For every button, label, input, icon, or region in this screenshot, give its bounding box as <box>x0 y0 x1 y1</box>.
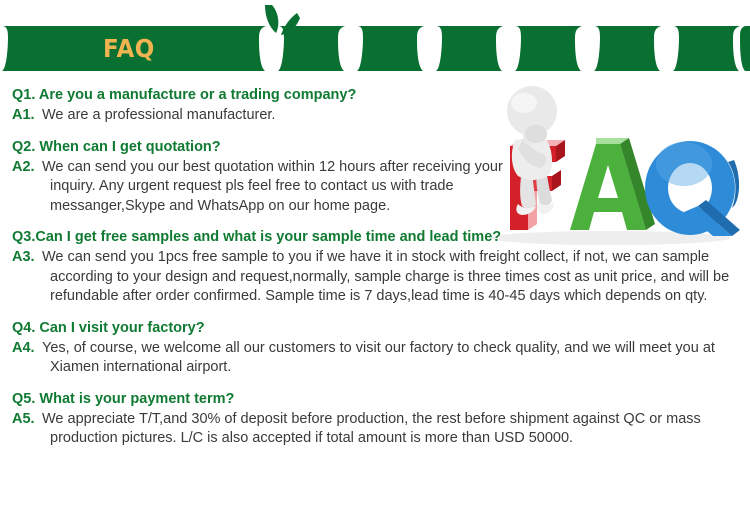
faq-question: Q3.Can I get free samples and what is yo… <box>12 228 738 247</box>
bamboo-banner: FAQ <box>0 0 750 78</box>
faq-answer: A4.Yes, of course, we welcome all our cu… <box>12 339 738 378</box>
faq-answer-tag: A2. <box>12 158 42 178</box>
faq-answer-text: We are a professional manufacturer. <box>42 107 275 123</box>
bamboo-segment-4 <box>436 26 503 71</box>
faq-item-3: Q3.Can I get free samples and what is yo… <box>12 228 738 307</box>
bamboo-segment-3 <box>357 26 424 71</box>
faq-answer-text: Yes, of course, we welcome all our custo… <box>42 340 715 376</box>
faq-item-1: Q1. Are you a manufacture or a trading c… <box>12 86 738 126</box>
bamboo-segment-8 <box>740 26 750 71</box>
banner-title: FAQ <box>103 36 155 61</box>
faq-question: Q5. What is your payment term? <box>12 390 738 409</box>
faq-answer-text: We appreciate T/T,and 30% of deposit bef… <box>42 411 701 447</box>
faq-question: Q4. Can I visit your factory? <box>12 319 738 338</box>
faq-list: Q1. Are you a manufacture or a trading c… <box>12 86 738 461</box>
faq-answer: A5.We appreciate T/T,and 30% of deposit … <box>12 410 738 449</box>
faq-question: Q1. Are you a manufacture or a trading c… <box>12 86 472 105</box>
faq-item-4: Q4. Can I visit your factory? A4.Yes, of… <box>12 319 738 378</box>
faq-item-5: Q5. What is your payment term? A5.We app… <box>12 390 738 449</box>
faq-answer-tag: A3. <box>12 248 42 268</box>
bamboo-leaf-left <box>265 5 278 33</box>
faq-answer: A3.We can send you 1pcs free sample to y… <box>12 248 738 307</box>
faq-answer: A2.We can send you our best quotation wi… <box>12 158 510 217</box>
faq-answer-text: We can send you our best quotation withi… <box>42 159 503 214</box>
faq-item-2: Q2. When can I get quotation? A2.We can … <box>12 138 738 217</box>
faq-question: Q2. When can I get quotation? <box>12 138 472 157</box>
faq-answer: A1.We are a professional manufacturer. <box>12 106 510 126</box>
faq-answer-tag: A4. <box>12 339 42 359</box>
faq-answer-tag: A5. <box>12 410 42 430</box>
bamboo-segment-6 <box>594 26 661 71</box>
bamboo-segment-5 <box>515 26 582 71</box>
bamboo-segment-2 <box>278 26 345 71</box>
faq-answer-text: We can send you 1pcs free sample to you … <box>42 249 729 304</box>
faq-answer-tag: A1. <box>12 106 42 126</box>
bamboo-segment-7 <box>673 26 740 71</box>
